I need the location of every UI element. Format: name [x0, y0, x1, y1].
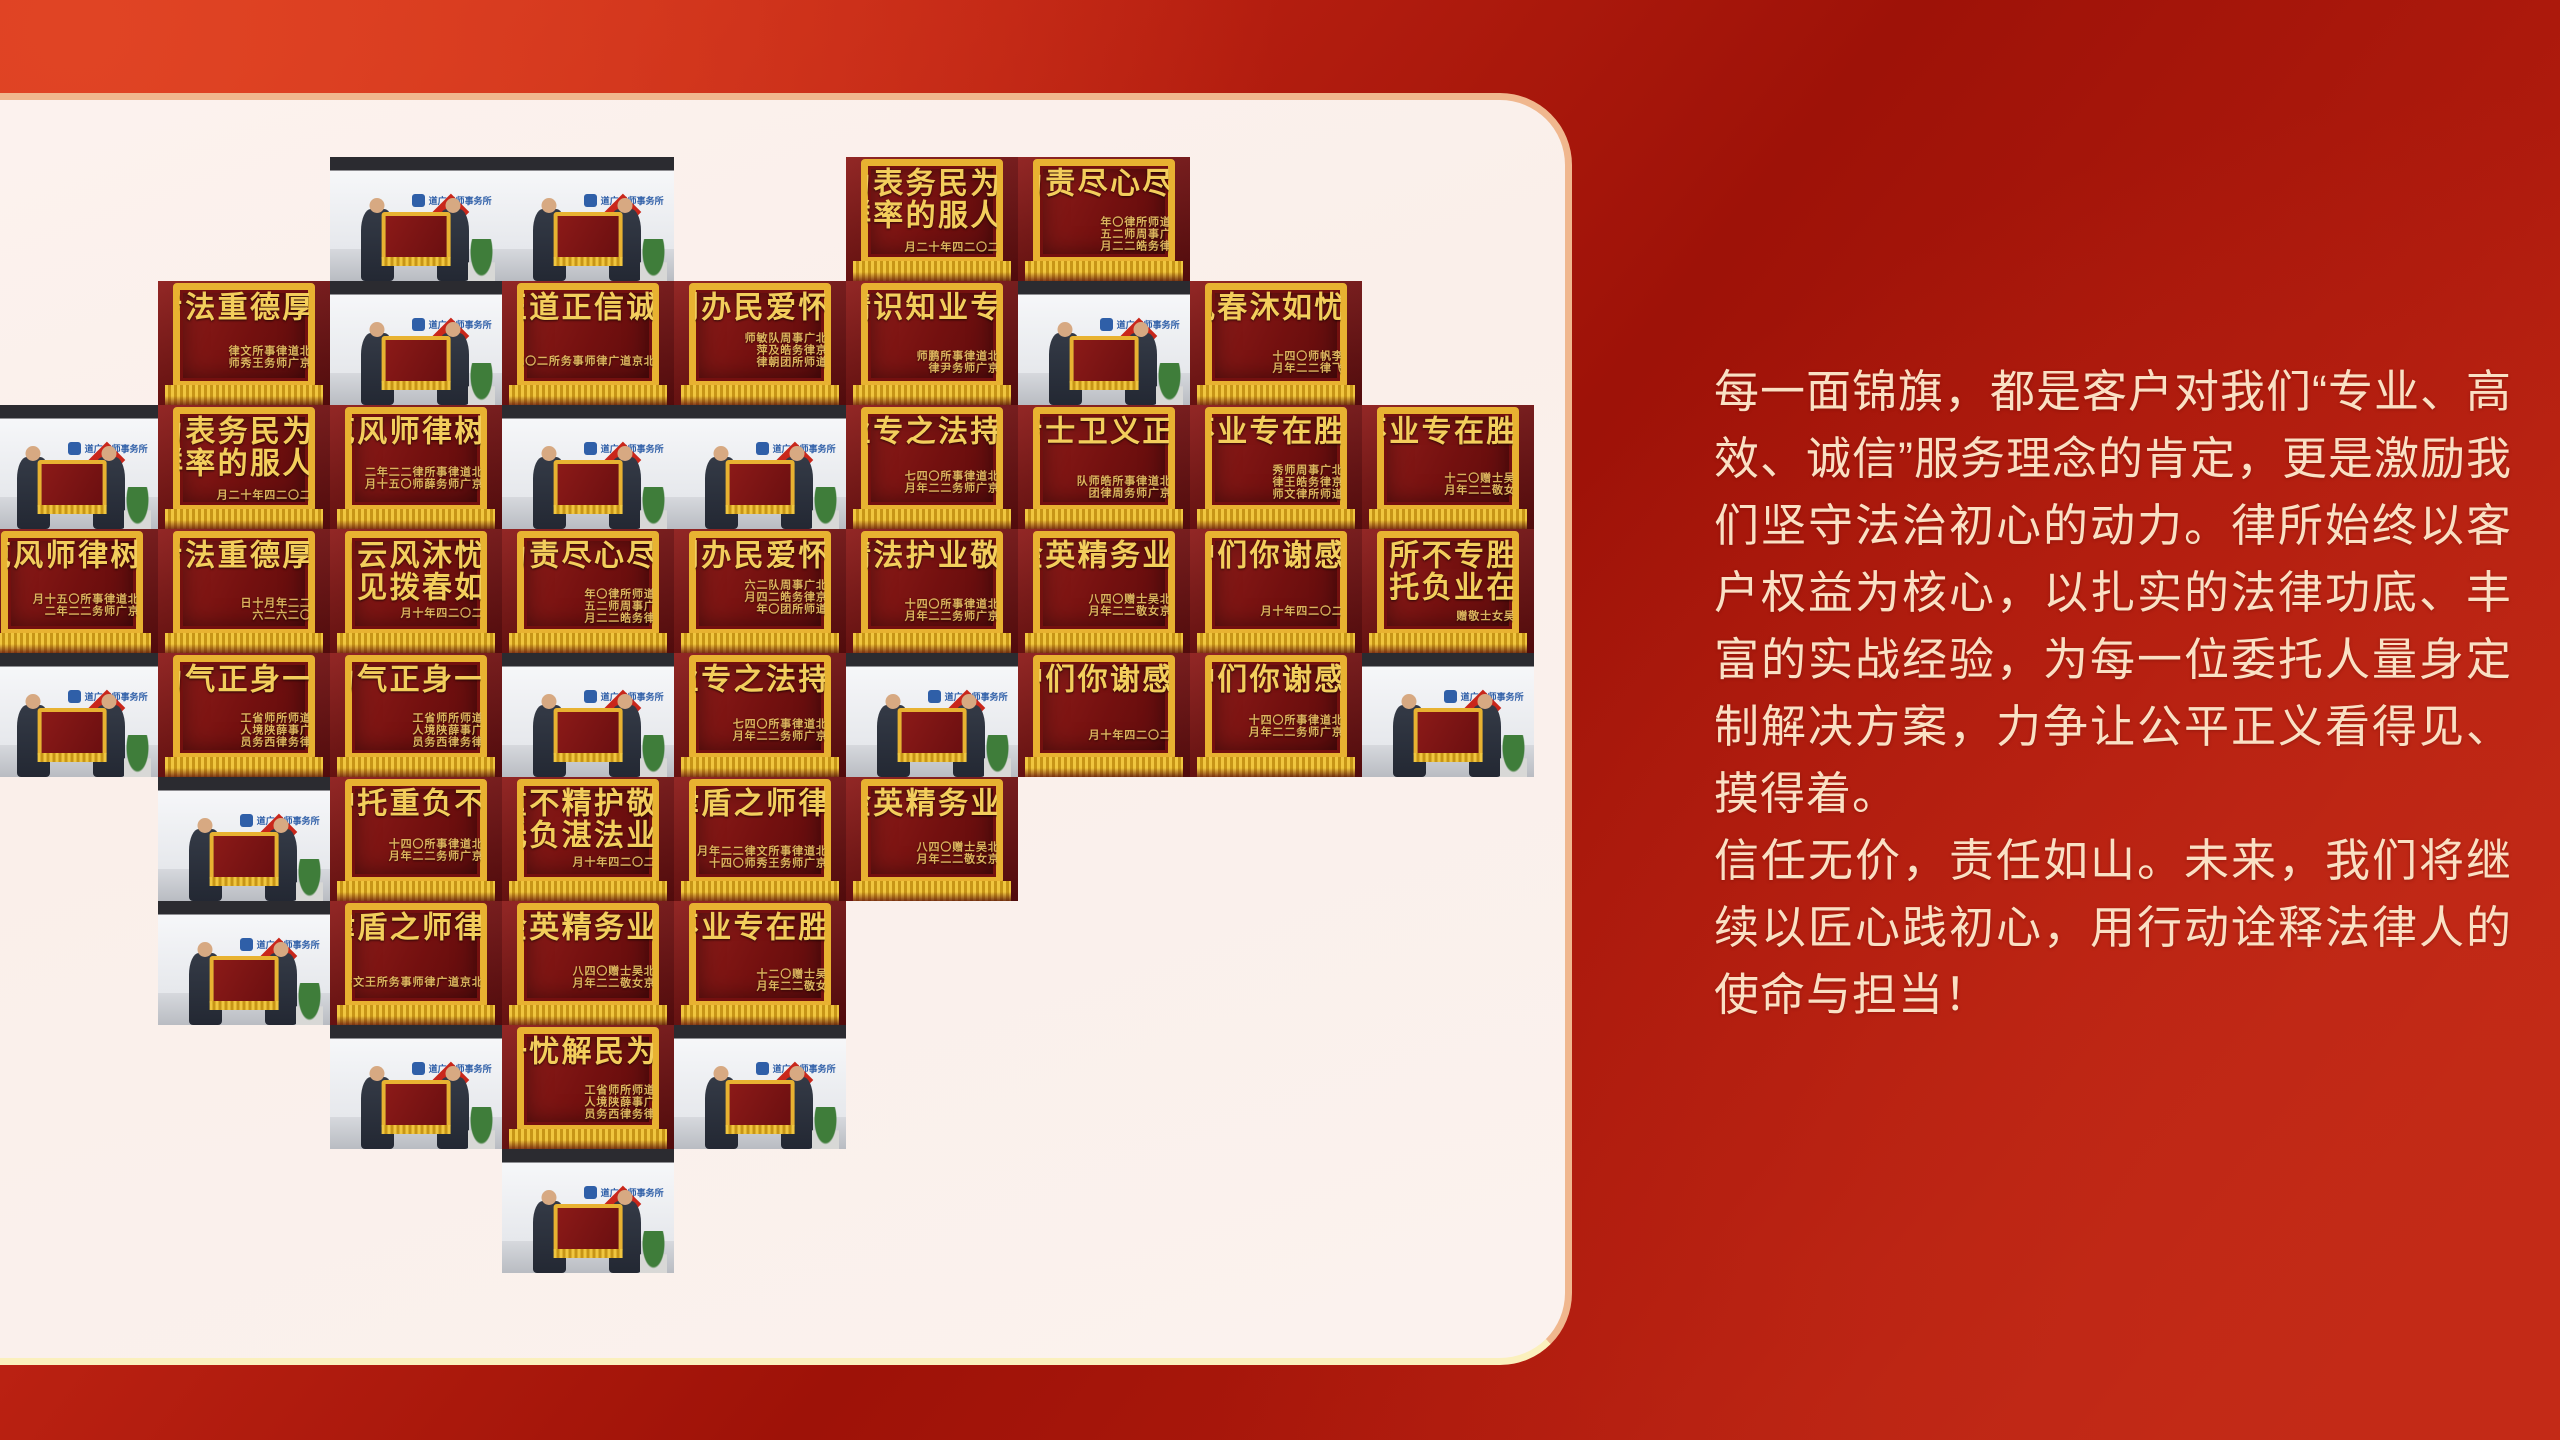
banner-photo: 二〇二四年十月感谢你们护航正义 — [1190, 529, 1362, 653]
plant — [1156, 363, 1184, 405]
logo-mark-icon — [1444, 690, 1457, 703]
banner-photo: 李飞帆律师二〇二四年十月忧如沐春风拨云见日 — [1190, 281, 1362, 405]
mosaic-tile[interactable]: 北京道广律师事务所二〇二四年三月诚信正道正义化身扬善退恶仗义执言 — [502, 281, 674, 405]
banner-donor-note: 北京吴女士敬赠二〇二四年八月 — [914, 841, 997, 874]
banner-slogan: 怀爱民办利民 — [695, 291, 826, 329]
banner-slogan: 诚信正道正义化身扬善退恶仗义执言 — [523, 291, 654, 352]
plant — [640, 1231, 668, 1273]
copy-paragraph-1: 每一面锦旗，都是客户对我们“专业、高效、诚信”服务理念的肯定，更是激励我们坚守法… — [1672, 358, 2512, 827]
banner-calligraphy: 北京吴女士敬赠二〇二四年八月业务精英金牌律师 — [1039, 539, 1170, 626]
banner-calligraphy: 北京道广律师事务所王文秀律师律师之盾律师之光谢你们护航正义 — [351, 911, 482, 998]
mosaic-tile[interactable]: 北京道广律师事务所二〇二四年七月持法之专业解民之所难 — [846, 405, 1018, 529]
banner-donor-note: 二〇二四年十月 — [570, 856, 653, 873]
banner-calligraphy: 北京道广律师事务所周皓律师团队正义卫士专业精湛尽心尽责 — [1039, 415, 1170, 502]
banner-photo: 道广律师事务所周皓律师二〇二二年五月尽心尽责为民解忧 — [1018, 157, 1190, 281]
banner-donor-note: 二〇二四年十二月 — [214, 489, 309, 502]
banner-calligraphy: 北京道广律师事务所周皓团队及朝敏萍律师怀爱民办利民 — [695, 291, 826, 378]
banner-donor-note: 北京道广律师事务所二〇二四年十月 — [1246, 714, 1341, 750]
banner-donor-note: 北京道广律师事务所二〇二四年七月 — [730, 718, 825, 749]
mosaic-tile[interactable]: 道广律师事务所薛律师陕西省境务工人员一身正气为民解忧 — [158, 653, 330, 777]
banner-photo: 北京道广律师事务所王文秀律师二〇二四年十月律师之盾律师之光谢你们护航正义 — [674, 777, 846, 901]
plant — [640, 239, 668, 281]
mosaic-tile[interactable]: 北京道广律师事务所薛律师二〇二五年十二月树律师风范护法律公正 — [330, 405, 502, 529]
banner-slogan: 专业知识精品德素质高 — [867, 291, 998, 347]
banner-calligraphy: 北京吴女士敬赠二〇二四年八月业务精英金牌律师 — [867, 787, 998, 874]
banner-donor-note: 北京道广律师事务所王文秀律师 — [226, 345, 309, 378]
banner-slogan: 感谢你们护航正义 — [1211, 539, 1342, 602]
banner-donor-note: 二〇二四年十月 — [1258, 605, 1341, 626]
logo-mark-icon — [240, 938, 253, 951]
slide-root: 道广律师事务所道广律师事务所二〇二四年十二月为人民服务的表率为群众着想的亲人道广… — [0, 0, 2560, 1440]
banner-donor-note: 吴女士敬赠二〇二二年十月 — [754, 968, 825, 998]
banner-slogan: 感谢你们护航正义 — [1039, 663, 1170, 726]
mosaic-tile[interactable]: 北京道广律师事务所王文秀律师厚德重法专业敬业 — [158, 281, 330, 405]
banner-donor-note: 吴女士敬赠 — [1454, 610, 1513, 626]
mosaic-tile[interactable]: 吴女士敬赠二〇二二年十月胜在专业不负所托 — [1362, 405, 1534, 529]
banner-calligraphy: 道广律师事务所薛律师陕西省境务工人员一身正气为民解忧 — [179, 663, 310, 750]
banner-calligraphy: 吴女士敬赠二〇二二年十月胜在专业不负所托 — [695, 911, 826, 998]
banner-photo: 北京道广律师事务所尹鹏律师专业知识精品德素质高 — [846, 281, 1018, 405]
banner-donor-note: 北京道广律师事务所王文秀律师 — [351, 976, 482, 998]
banner-slogan: 尽心尽责为民解忧 — [523, 539, 654, 584]
logo-mark-icon — [584, 690, 597, 703]
mosaic-tile[interactable]: 道广律师事务所 — [502, 653, 674, 777]
banner-calligraphy: 北京道广律师事务所二〇二五年十二月树律师风范护法律公正 — [7, 539, 138, 626]
mosaic-tile[interactable]: 道广律师事务所 — [502, 157, 674, 281]
banner-calligraphy: 北京道广律师事务所王文秀律师厚德重法专业敬业 — [179, 291, 310, 378]
office-photo: 道广律师事务所 — [0, 405, 158, 529]
banner-donor-note: 二〇二四年十月 — [398, 607, 481, 626]
banner-calligraphy: 吴女士敬赠胜在专业不负所托 — [1383, 539, 1514, 626]
banner-calligraphy: 李飞帆律师二〇二四年十月忧如沐春风拨云见日 — [1211, 291, 1342, 378]
mosaic-tile[interactable]: 北京道广律师事务所二〇二四年十月感谢你们护航正义 — [1190, 653, 1362, 777]
logo-mark-icon — [584, 1186, 597, 1199]
banner-photo: 北京道广律师事务所周皓律师王文秀律师胜在专业不负所托 — [1190, 405, 1362, 529]
plant — [296, 859, 324, 901]
banner-calligraphy: 二〇二四年十二月为人民服务的表率为群众着想的亲人 — [867, 167, 998, 254]
banner-calligraphy: 二〇二二年六月二十六日厚德重法专业敬业 — [179, 539, 310, 626]
banner-photo: 北京道广律师事务所二〇二五年十二月树律师风范护法律公正 — [0, 529, 158, 653]
mosaic-tile[interactable]: 道广律师事务所 — [846, 653, 1018, 777]
office-photo: 道广律师事务所 — [330, 1025, 502, 1149]
held-banner — [726, 1080, 795, 1130]
mosaic-tile[interactable]: 北京道广律师事务所二〇二四年十月不负重托护法精湛 — [330, 777, 502, 901]
mosaic-tile[interactable]: 北京道广律师事务所二〇二四年七月持法之专业解民之所难 — [674, 653, 846, 777]
banner-slogan: 敬业护法精湛尽责不负重托 — [867, 539, 998, 595]
office-photo: 道广律师事务所 — [1362, 653, 1534, 777]
banner-calligraphy: 北京道广律师事务所二〇二四年七月持法之专业解民之所难 — [695, 663, 826, 750]
held-banner — [38, 460, 107, 510]
banner-photo: 二〇二二年六月二十六日厚德重法专业敬业 — [158, 529, 330, 653]
banner-donor-note: 吴女士敬赠二〇二二年十月 — [1442, 472, 1513, 502]
banner-slogan: 一身正气为民解忧 — [351, 663, 482, 708]
mosaic-tile[interactable]: 李飞帆律师二〇二四年十月忧如沐春风拨云见日 — [1190, 281, 1362, 405]
office-photo: 道广律师事务所 — [0, 653, 158, 777]
mosaic-tile[interactable]: 北京道广律师事务所周皓律师王文秀律师胜在专业不负所托 — [1190, 405, 1362, 529]
banner-slogan: 敬业护法精湛不负重托 — [523, 787, 654, 853]
logo-mark-icon — [412, 318, 425, 331]
banner-donor-note: 北京道广律师事务所二〇二四年十月 — [386, 838, 481, 874]
plant — [640, 735, 668, 777]
logo-mark-icon — [756, 442, 769, 455]
banner-photo: 道广律师事务所薛律师陕西省境务工人员一身正气为民解忧 — [158, 653, 330, 777]
banner-donor-note: 北京道广律师事务所二〇二五年十二月 — [31, 593, 138, 625]
banner-photo: 二〇二四年十月忧如沐春风拨云见日 — [330, 529, 502, 653]
banner-slogan: 持法之专业解民之所难 — [867, 415, 998, 467]
banner-photo: 北京道广律师事务所周皓团队及朝敏萍律师怀爱民办利民 — [674, 281, 846, 405]
banner-slogan: 为人民服务的表率为群众着想的亲人 — [179, 415, 310, 485]
banner-slogan: 感谢你们护航正义 — [1211, 663, 1342, 711]
office-photo: 道广律师事务所 — [674, 1025, 846, 1149]
mosaic-tile[interactable]: 道广律师事务所 — [330, 157, 502, 281]
mosaic-tile[interactable]: 吴女士敬赠二〇二二年十月胜在专业不负所托 — [674, 901, 846, 1025]
banner-calligraphy: 道广律师事务所薛律师陕西省境务工人员一身正气为民解忧 — [351, 663, 482, 750]
banner-calligraphy: 北京道广律师事务所二〇二四年七月持法之专业解民之所难 — [867, 415, 998, 502]
banner-slogan: 业务精英金牌律师 — [1039, 539, 1170, 589]
banner-slogan: 胜在专业不负所托 — [1384, 539, 1514, 607]
mosaic-tile[interactable]: 北京道广律师事务所王文秀律师二〇二四年十月律师之盾律师之光谢你们护航正义 — [674, 777, 846, 901]
plant — [296, 983, 324, 1025]
banner-calligraphy: 北京道广律师事务所周皓律师王文秀律师胜在专业不负所托 — [1211, 415, 1342, 502]
logo-mark-icon — [584, 442, 597, 455]
banner-calligraphy: 北京道广律师事务所二〇二四年十月不负重托护法精湛 — [351, 787, 482, 874]
mosaic-tile[interactable]: 北京道广律师事务所周皓团队二〇二四年六月怀爱民办利民 — [674, 529, 846, 653]
banner-slogan: 不负重托护法精湛 — [351, 787, 482, 835]
mosaic-tile[interactable]: 道广律师事务所薛律师陕西省境务工人员一身正气为民解忧 — [330, 653, 502, 777]
office-photo: 道广律师事务所 — [502, 157, 674, 281]
banner-photo: 吴女士敬赠二〇二二年十月胜在专业不负所托 — [674, 901, 846, 1025]
banner-photo: 北京吴女士敬赠二〇二四年八月业务精英金牌律师 — [1018, 529, 1190, 653]
office-photo: 道广律师事务所 — [158, 901, 330, 1025]
office-photo: 道广律师事务所 — [502, 653, 674, 777]
mosaic-tile[interactable]: 道广律师事务所 — [502, 405, 674, 529]
banner-donor-note: 北京道广律师事务所二〇二四年七月 — [902, 470, 997, 501]
mosaic-tile[interactable]: 道广律师事务所 — [0, 653, 158, 777]
logo-mark-icon — [240, 814, 253, 827]
office-photo: 道广律师事务所 — [502, 1149, 674, 1273]
held-banner — [1414, 708, 1483, 758]
mosaic-tile[interactable]: 二〇二四年十月感谢你们护航正义 — [1190, 529, 1362, 653]
plant — [468, 1107, 496, 1149]
held-banner — [382, 1080, 451, 1130]
banner-slogan: 树律师风范护法律公正 — [351, 415, 482, 463]
held-banner — [898, 708, 967, 758]
banner-donor-note: 北京吴女士敬赠二〇二四年八月 — [1086, 593, 1169, 626]
banner-slogan: 胜在专业不负所托 — [1211, 415, 1342, 460]
banner-donor-note: 北京道广律师事务所周皓律师王文秀律师 — [1270, 464, 1341, 502]
photo-card: 道广律师事务所道广律师事务所二〇二四年十二月为人民服务的表率为群众着想的亲人道广… — [0, 93, 1572, 1365]
mosaic-tile[interactable]: 道广律师事务所周皓律师二〇二二年五月尽心尽责为民解忧 — [502, 529, 674, 653]
mosaic-tile[interactable]: 道广律师事务所 — [0, 405, 158, 529]
banner-donor-note: 二〇二四年十二月 — [902, 241, 997, 254]
banner-photo: 北京道广律师事务所二〇二四年七月持法之专业解民之所难 — [846, 405, 1018, 529]
mosaic-tile[interactable]: 道广律师事务所 — [158, 777, 330, 901]
banner-calligraphy: 道广律师事务所周皓律师二〇二二年五月尽心尽责为民解忧 — [1039, 167, 1170, 254]
office-photo: 道广律师事务所 — [330, 281, 502, 405]
held-banner — [554, 1204, 623, 1254]
banner-donor-note: 道广律师事务所薛律师陕西省境务工人员 — [410, 712, 481, 750]
banner-donor-note: 李飞帆律师二〇二四年十月 — [1270, 350, 1341, 378]
logo-mark-icon — [928, 690, 941, 703]
mosaic-tile[interactable]: 北京道广律师事务所王文秀律师律师之盾律师之光谢你们护航正义 — [330, 901, 502, 1025]
mosaic-tile[interactable]: 道广律师事务所 — [1362, 653, 1534, 777]
held-banner — [554, 460, 623, 510]
held-banner — [726, 460, 795, 510]
held-banner — [210, 956, 279, 1006]
mosaic-tile[interactable]: 吴女士敬赠胜在专业不负所托 — [1362, 529, 1534, 653]
banner-slogan: 持法之专业解民之所难 — [695, 663, 826, 715]
banner-calligraphy: 二〇二四年十月敬业护法精湛不负重托 — [523, 787, 654, 874]
banner-calligraphy: 二〇二四年十二月为人民服务的表率为群众着想的亲人 — [179, 415, 310, 502]
banner-slogan: 正义卫士专业精湛尽心尽责 — [1039, 415, 1170, 472]
held-banner — [554, 708, 623, 758]
banner-slogan: 业务精英金牌律师 — [867, 787, 998, 837]
logo-mark-icon — [412, 194, 425, 207]
mosaic-tile[interactable]: 北京道广律师事务所二〇二四年十月敬业护法精湛尽责不负重托 — [846, 529, 1018, 653]
banner-slogan: 业务精英金牌律师 — [523, 911, 654, 961]
banner-slogan: 为民解忧一身正气 — [523, 1035, 654, 1080]
copy-block: 每一面锦旗，都是客户对我们“专业、高效、诚信”服务理念的肯定，更是激励我们坚守法… — [1672, 358, 2512, 1028]
banner-calligraphy: 北京道广律师事务所二〇二四年三月诚信正道正义化身扬善退恶仗义执言 — [523, 291, 654, 378]
banner-photo: 北京道广律师事务所王文秀律师律师之盾律师之光谢你们护航正义 — [330, 901, 502, 1025]
logo-mark-icon — [756, 1062, 769, 1075]
banner-donor-note: 北京道广律师事务所二〇二四年三月 — [523, 355, 654, 378]
banner-photo: 吴女士敬赠二〇二二年十月胜在专业不负所托 — [1362, 405, 1534, 529]
banner-calligraphy: 北京道广律师事务所二〇二四年十月敬业护法精湛尽责不负重托 — [867, 539, 998, 626]
plant — [468, 239, 496, 281]
banner-photo: 北京道广律师事务所周皓律师团队正义卫士专业精湛尽心尽责 — [1018, 405, 1190, 529]
held-banner — [554, 212, 623, 262]
plant — [1500, 735, 1528, 777]
banner-donor-note: 北京道广律师事务所王文秀律师二〇二四年十月 — [695, 845, 826, 874]
banner-photo: 北京道广律师事务所王文秀律师厚德重法专业敬业 — [158, 281, 330, 405]
mosaic-tile[interactable]: 北京道广律师事务所周皓团队及朝敏萍律师怀爱民办利民 — [674, 281, 846, 405]
mosaic-tile[interactable]: 道广律师事务所 — [330, 1025, 502, 1149]
banner-photo: 北京道广律师事务所二〇二四年七月持法之专业解民之所难 — [674, 653, 846, 777]
banner-slogan: 尽心尽责为民解忧 — [1039, 167, 1170, 212]
banner-calligraphy: 二〇二四年十月感谢你们护航正义 — [1211, 539, 1342, 626]
banner-donor-note: 北京道广律师事务所周皓律师团队 — [1074, 475, 1169, 502]
banner-donor-note: 二〇二四年十月 — [1086, 729, 1169, 750]
banner-calligraphy: 北京道广律师事务所周皓团队二〇二四年六月怀爱民办利民 — [695, 539, 826, 626]
office-photo: 道广律师事务所 — [1018, 281, 1190, 405]
mosaic-tile[interactable]: 二〇二四年十月忧如沐春风拨云见日 — [330, 529, 502, 653]
banner-donor-note: 二〇二二年六月二十六日 — [238, 597, 309, 625]
plant — [812, 487, 840, 529]
mosaic-tile[interactable]: 二〇二四年十二月为人民服务的表率为群众着想的亲人 — [846, 157, 1018, 281]
banner-slogan: 忧如沐春风拨云见日 — [1211, 291, 1342, 347]
banner-calligraphy: 二〇二四年十月感谢你们护航正义 — [1039, 663, 1170, 750]
banner-calligraphy: 北京道广律师事务所二〇二四年十月感谢你们护航正义 — [1211, 663, 1342, 750]
logo-mark-icon — [412, 1062, 425, 1075]
banner-calligraphy: 吴女士敬赠二〇二二年十月胜在专业不负所托 — [1383, 415, 1514, 502]
office-photo: 道广律师事务所 — [502, 405, 674, 529]
banner-slogan: 忧如沐春风拨云见日 — [351, 539, 482, 604]
held-banner — [1070, 336, 1139, 386]
banner-donor-note: 北京道广律师事务所周皓团队及朝敏萍律师 — [742, 332, 825, 377]
banner-photo: 北京道广律师事务所薛律师二〇二五年十二月树律师风范护法律公正 — [330, 405, 502, 529]
banner-photo: 北京道广律师事务所周皓团队二〇二四年六月怀爱民办利民 — [674, 529, 846, 653]
banner-donor-note: 北京道广律师事务所尹鹏律师 — [914, 350, 997, 377]
banner-photo: 二〇二四年十二月为人民服务的表率为群众着想的亲人 — [846, 157, 1018, 281]
banner-slogan: 律师之盾律师之光谢你们护航正义 — [351, 911, 482, 973]
banner-donor-note: 道广律师事务所周皓律师二〇二二年五月 — [582, 588, 653, 626]
plant — [640, 487, 668, 529]
plant — [124, 487, 152, 529]
plant — [124, 735, 152, 777]
banner-photo: 二〇二四年十月敬业护法精湛不负重托 — [502, 777, 674, 901]
mosaic-tile[interactable]: 道广律师事务所 — [674, 405, 846, 529]
banner-donor-note: 道广律师事务所薛律师陕西省境务工人员 — [582, 1084, 653, 1122]
mosaic-tile[interactable]: 北京道广律师事务所二〇二五年十二月树律师风范护法律公正 — [0, 529, 158, 653]
banner-photo: 二〇二四年十二月为人民服务的表率为群众着想的亲人 — [158, 405, 330, 529]
banner-photo: 北京道广律师事务所二〇二四年十月敬业护法精湛尽责不负重托 — [846, 529, 1018, 653]
copy-paragraph-2: 信任无价，责任如山。未来，我们将继续以匠心践初心，用行动诠释法律人的使命与担当！ — [1672, 827, 2512, 1028]
banner-calligraphy: 北京吴女士敬赠二〇二四年八月业务精英金牌律师 — [523, 911, 654, 998]
mosaic-tile[interactable]: 北京吴女士敬赠二〇二四年八月业务精英金牌律师 — [502, 901, 674, 1025]
banner-photo: 二〇二四年十月感谢你们护航正义 — [1018, 653, 1190, 777]
mosaic-tile[interactable]: 道广律师事务所周皓律师二〇二二年五月尽心尽责为民解忧 — [1018, 157, 1190, 281]
banner-photo: 道广律师事务所薛律师陕西省境务工人员为民解忧一身正气 — [502, 1025, 674, 1149]
banner-calligraphy: 二〇二四年十月忧如沐春风拨云见日 — [351, 539, 482, 626]
banner-slogan: 怀爱民办利民 — [695, 539, 826, 576]
banner-donor-note: 北京道广律师事务所薛律师二〇二五年十二月 — [363, 466, 482, 502]
plant — [468, 363, 496, 405]
mosaic-tile[interactable]: 道广律师事务所 — [674, 1025, 846, 1149]
banner-donor-note: 北京吴女士敬赠二〇二四年八月 — [570, 965, 653, 998]
logo-mark-icon — [584, 194, 597, 207]
banner-calligraphy: 北京道广律师事务所薛律师二〇二五年十二月树律师风范护法律公正 — [351, 415, 482, 502]
banner-donor-note: 北京道广律师事务所周皓团队二〇二四年六月 — [742, 579, 825, 625]
held-banner — [382, 212, 451, 262]
mosaic-tile[interactable]: 二〇二四年十月敬业护法精湛不负重托 — [502, 777, 674, 901]
mosaic-tile[interactable]: 二〇二二年六月二十六日厚德重法专业敬业 — [158, 529, 330, 653]
banner-photo: 北京道广律师事务所二〇二四年十月感谢你们护航正义 — [1190, 653, 1362, 777]
banner-calligraphy: 道广律师事务所周皓律师二〇二二年五月尽心尽责为民解忧 — [523, 539, 654, 626]
mosaic-tile[interactable]: 二〇二四年十月感谢你们护航正义 — [1018, 653, 1190, 777]
banner-slogan: 树律师风范护法律公正 — [7, 539, 138, 590]
held-banner — [210, 832, 279, 882]
mosaic-tile[interactable]: 道广律师事务所 — [158, 901, 330, 1025]
office-photo: 道广律师事务所 — [330, 157, 502, 281]
held-banner — [382, 336, 451, 386]
banner-slogan: 律师之盾律师之光谢你们护航正义 — [695, 787, 826, 842]
banner-donor-note: 道广律师事务所周皓律师二〇二二年五月 — [1098, 216, 1169, 254]
banner-slogan: 厚德重法专业敬业 — [179, 539, 310, 594]
office-photo: 道广律师事务所 — [846, 653, 1018, 777]
banner-photo: 道广律师事务所周皓律师二〇二二年五月尽心尽责为民解忧 — [502, 529, 674, 653]
banner-slogan: 胜在专业不负所托 — [1383, 415, 1514, 468]
banner-photo: 北京吴女士敬赠二〇二四年八月业务精英金牌律师 — [846, 777, 1018, 901]
banner-photo: 北京吴女士敬赠二〇二四年八月业务精英金牌律师 — [502, 901, 674, 1025]
banner-photo: 道广律师事务所薛律师陕西省境务工人员一身正气为民解忧 — [330, 653, 502, 777]
banner-photo: 北京道广律师事务所二〇二四年十月不负重托护法精湛 — [330, 777, 502, 901]
mosaic-tile[interactable]: 北京吴女士敬赠二〇二四年八月业务精英金牌律师 — [846, 777, 1018, 901]
office-photo: 道广律师事务所 — [674, 405, 846, 529]
logo-mark-icon — [68, 442, 81, 455]
banner-slogan: 厚德重法专业敬业 — [179, 291, 310, 341]
mosaic-tile[interactable]: 二〇二四年十二月为人民服务的表率为群众着想的亲人 — [158, 405, 330, 529]
banner-photo: 北京道广律师事务所二〇二四年三月诚信正道正义化身扬善退恶仗义执言 — [502, 281, 674, 405]
banner-donor-note: 北京道广律师事务所二〇二四年十月 — [902, 598, 997, 626]
mosaic-tile[interactable]: 北京道广律师事务所尹鹏律师专业知识精品德素质高 — [846, 281, 1018, 405]
mosaic-tile[interactable]: 道广律师事务所 — [1018, 281, 1190, 405]
photo-mosaic-grid: 道广律师事务所道广律师事务所二〇二四年十二月为人民服务的表率为群众着想的亲人道广… — [0, 157, 1516, 1365]
logo-mark-icon — [68, 690, 81, 703]
mosaic-tile[interactable]: 道广律师事务所 — [330, 281, 502, 405]
banner-calligraphy: 北京道广律师事务所王文秀律师二〇二四年十月律师之盾律师之光谢你们护航正义 — [695, 787, 826, 874]
banner-slogan: 胜在专业不负所托 — [695, 911, 826, 964]
logo-mark-icon — [1100, 318, 1113, 331]
held-banner — [38, 708, 107, 758]
plant — [984, 735, 1012, 777]
banner-calligraphy: 道广律师事务所薛律师陕西省境务工人员为民解忧一身正气 — [523, 1035, 654, 1122]
banner-calligraphy: 北京道广律师事务所尹鹏律师专业知识精品德素质高 — [867, 291, 998, 378]
office-photo: 道广律师事务所 — [158, 777, 330, 901]
banner-slogan: 为人民服务的表率为群众着想的亲人 — [867, 167, 998, 237]
banner-photo: 吴女士敬赠胜在专业不负所托 — [1362, 529, 1534, 653]
banner-donor-note: 道广律师事务所薛律师陕西省境务工人员 — [238, 712, 309, 750]
banner-slogan: 一身正气为民解忧 — [179, 663, 310, 708]
mosaic-tile[interactable]: 道广律师事务所薛律师陕西省境务工人员为民解忧一身正气 — [502, 1025, 674, 1149]
mosaic-tile[interactable]: 道广律师事务所 — [502, 1149, 674, 1273]
mosaic-tile[interactable]: 北京道广律师事务所周皓律师团队正义卫士专业精湛尽心尽责 — [1018, 405, 1190, 529]
mosaic-tile[interactable]: 北京吴女士敬赠二〇二四年八月业务精英金牌律师 — [1018, 529, 1190, 653]
plant — [812, 1107, 840, 1149]
